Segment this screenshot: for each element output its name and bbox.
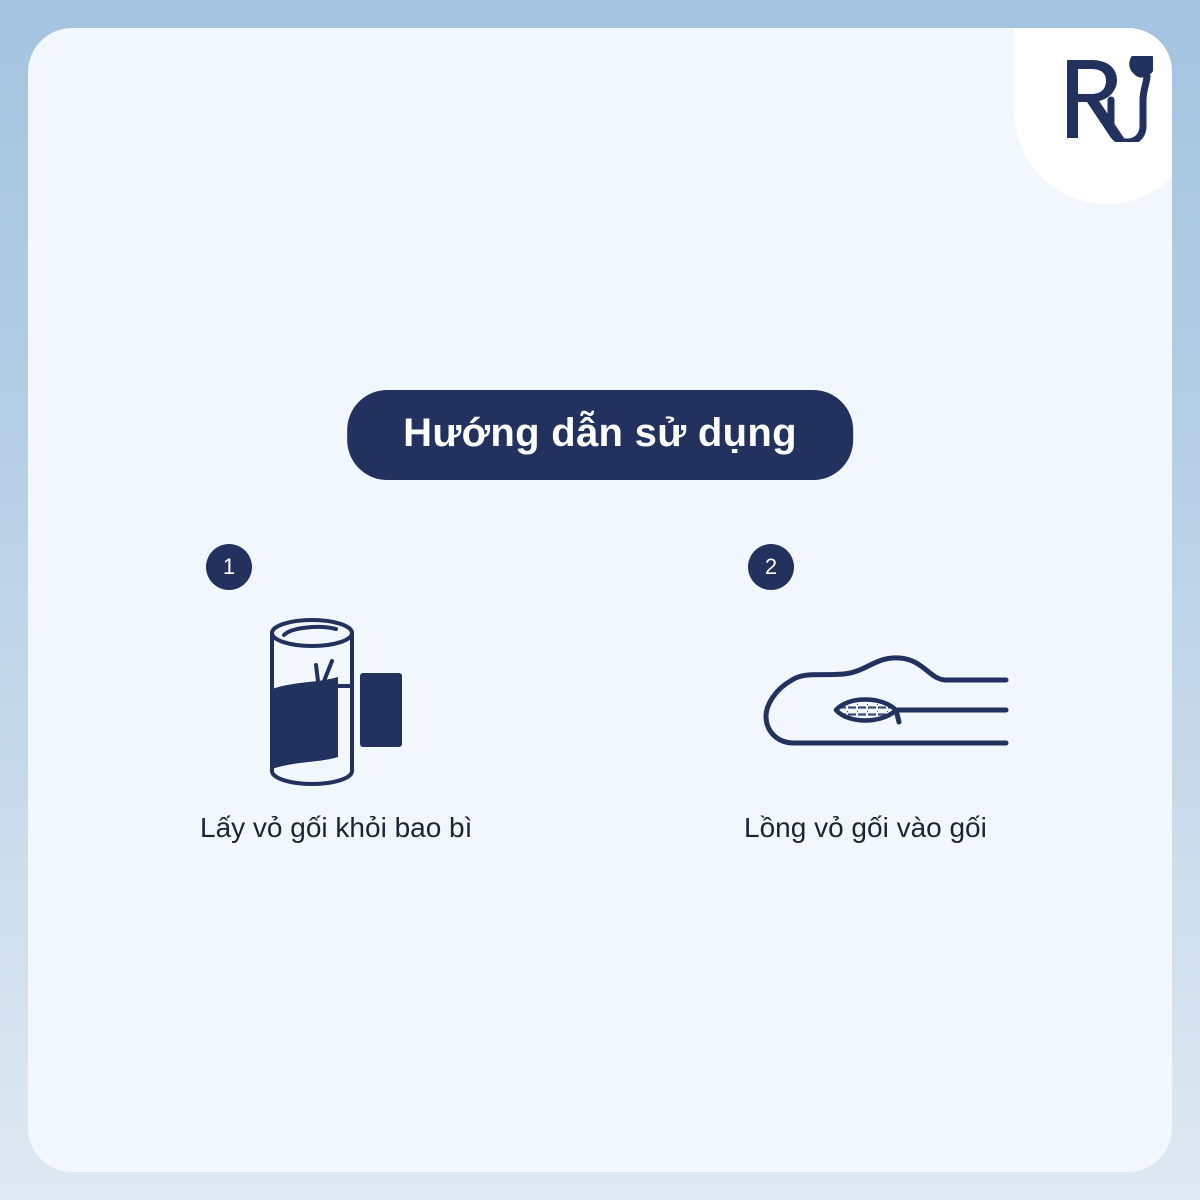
steps-list: 1 <box>28 544 1172 846</box>
step-number-badge-1: 1 <box>206 544 252 590</box>
ru-monogram-logo-icon <box>1061 56 1153 142</box>
step-illustration-2 <box>748 596 1172 810</box>
step-caption-1: Lấy vỏ gối khỏi bao bì <box>200 810 600 846</box>
rolled-pillowcase-in-package-icon <box>248 611 438 796</box>
step-item-1: 1 <box>28 544 600 846</box>
step-number-badge-2: 2 <box>748 544 794 590</box>
pillow-into-pillowcase-icon <box>748 648 1008 758</box>
step-item-2: 2 <box>600 544 1172 846</box>
brand-logo-badge <box>1014 28 1172 204</box>
instruction-card: Hướng dẫn sử dụng 1 <box>28 28 1172 1172</box>
outer-frame: Hướng dẫn sử dụng 1 <box>0 0 1200 1200</box>
step-illustration-1 <box>206 596 600 810</box>
step-caption-2: Lồng vỏ gối vào gối <box>744 810 1172 846</box>
page-title: Hướng dẫn sử dụng <box>347 390 853 480</box>
